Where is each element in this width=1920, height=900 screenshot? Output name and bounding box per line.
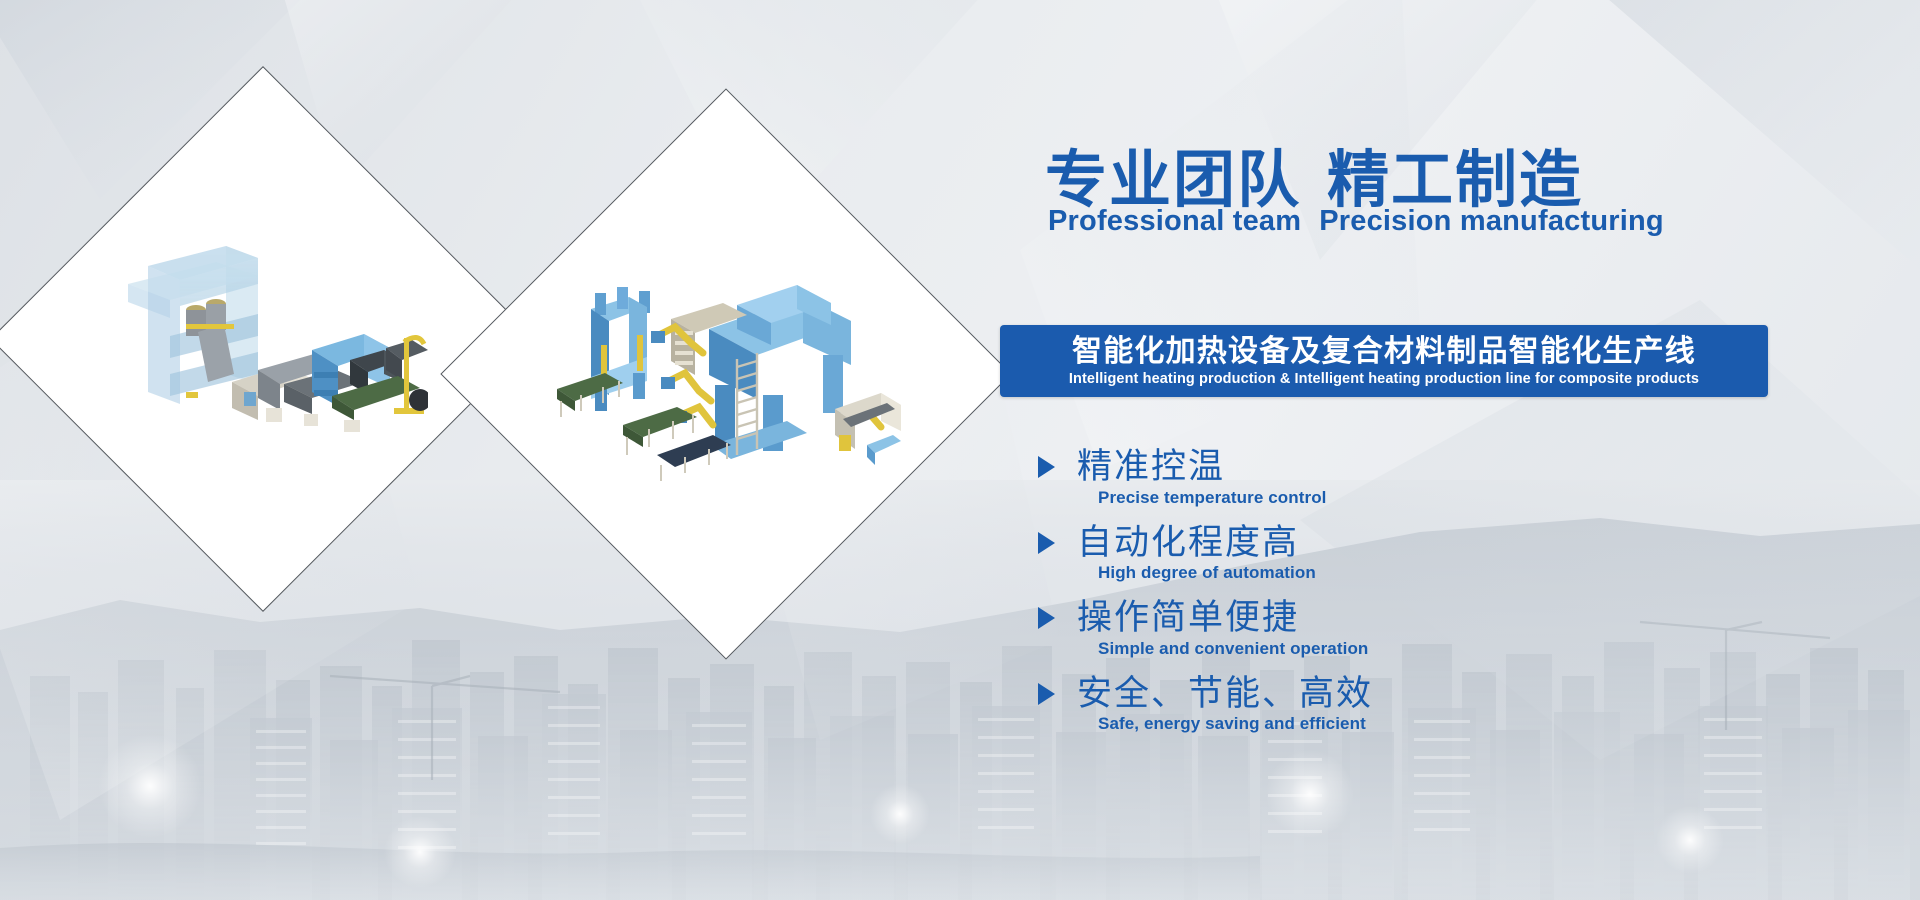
product-banner: 智能化加热设备及复合材料制品智能化生产线 Intelligent heating… [1000,325,1768,397]
headline-en-part1: Professional team [1048,205,1301,237]
feature-label-cn: 自动化程度高 [1077,524,1299,563]
feature-label-en: Simple and convenient operation [1098,639,1373,659]
feature-item: 安全、节能、高效 Safe, energy saving and efficie… [1038,675,1373,735]
headline-en-part2: Precision manufacturing [1319,205,1664,237]
composite-press-line-render [551,249,901,499]
feature-label-en: Precise temperature control [1098,488,1373,508]
feature-label-cn: 操作简单便捷 [1077,599,1299,638]
feature-list: 精准控温 Precise temperature control 自动化程度高 … [1038,448,1373,750]
page-title: 专业团队精工制造 [1045,148,1583,213]
product-banner-en: Intelligent heating production & Intelli… [1069,371,1699,387]
bullet-triangle-icon [1038,607,1055,629]
bullet-triangle-icon [1038,456,1055,478]
feature-label-cn: 安全、节能、高效 [1077,675,1373,714]
bullet-triangle-icon [1038,532,1055,554]
feature-label-en: Safe, energy saving and efficient [1098,714,1373,734]
feature-label-cn: 精准控温 [1077,448,1225,487]
heating-press-line-render [98,224,428,454]
bullet-triangle-icon [1038,683,1055,705]
banner-stage: 专业团队精工制造 Professional teamPrecision manu… [0,0,1920,900]
page-subtitle: Professional teamPrecision manufacturing [1048,205,1664,238]
right-render-inner [525,173,927,575]
left-render-inner [71,147,455,531]
feature-item: 操作简单便捷 Simple and convenient operation [1038,599,1373,659]
feature-item: 精准控温 Precise temperature control [1038,448,1373,508]
product-banner-cn: 智能化加热设备及复合材料制品智能化生产线 [1072,335,1696,368]
feature-label-en: High degree of automation [1098,563,1373,583]
feature-item: 自动化程度高 High degree of automation [1038,524,1373,584]
